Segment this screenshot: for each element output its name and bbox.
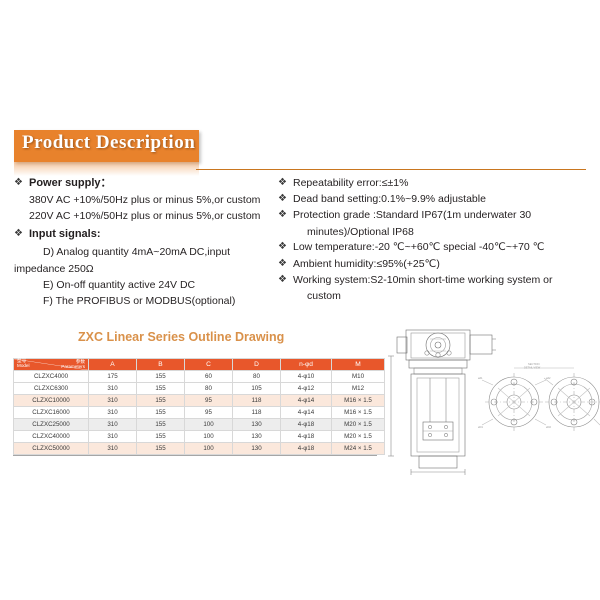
cell-c: 95 — [185, 407, 233, 419]
diamond-bullet-icon: ❖ — [278, 273, 293, 288]
cell-nd: 4-φ14 — [281, 395, 332, 407]
svg-text:øD1: øD1 — [478, 425, 483, 429]
cell-c: 60 — [185, 371, 233, 383]
diamond-bullet-icon: ❖ — [14, 227, 29, 242]
spec-repeatability-error: Repeatability error:≤±1% — [293, 176, 590, 191]
table-body: CLZXC4000 175 155 60 80 4-φ10 M10 CLZXC6… — [14, 371, 385, 455]
cell-m: M24 × 1.5 — [332, 443, 385, 455]
table-header-nd: n-φd — [281, 359, 332, 371]
spec-item: ❖ Repeatability error:≤±1% — [278, 176, 590, 191]
diamond-bullet-icon: ❖ — [278, 208, 293, 223]
cell-m: M20 × 1.5 — [332, 431, 385, 443]
cell-b: 155 — [137, 383, 185, 395]
spec-power-220v: 220V AC +10%/50Hz plus or minus 5%,or cu… — [14, 209, 276, 225]
spec-input-impedance: impedance 250Ω — [14, 261, 276, 277]
diamond-bullet-icon: ❖ — [14, 176, 29, 191]
cell-nd: 4-φ18 — [281, 431, 332, 443]
cell-nd: 4-φ12 — [281, 383, 332, 395]
table-row: CLZXC40000 310 155 100 130 4-φ18 M20 × 1… — [14, 431, 385, 443]
cell-model: CLZXC4000 — [14, 371, 89, 383]
svg-text:ød2: ød2 — [546, 376, 551, 380]
spec-label-power-supply: Power supply： — [29, 176, 276, 192]
spec-input-fieldbus: F) The PROFIBUS or MODBUS(optional) — [14, 293, 276, 309]
diamond-bullet-icon: ❖ — [278, 240, 293, 255]
table-corner-cell: 参数Parameters 型号Model — [14, 359, 89, 371]
cell-d: 105 — [233, 383, 281, 395]
drawing-section-title: ZXC Linear Series Outline Drawing — [78, 330, 284, 344]
cell-a: 310 — [89, 395, 137, 407]
table-row: CLZXC10000 310 155 95 118 4-φ14 M16 × 1.… — [14, 395, 385, 407]
spec-label-input-signals: Input signals: — [29, 227, 276, 243]
corner-parameters-label: 参数Parameters — [61, 360, 85, 370]
cell-b: 155 — [137, 431, 185, 443]
cell-m: M12 — [332, 383, 385, 395]
page-title: Product Description — [22, 132, 195, 154]
spec-item: ❖ Protection grade :Standard IP67(1m und… — [278, 208, 590, 223]
cell-b: 155 — [137, 395, 185, 407]
table-row: CLZXC50000 310 155 100 130 4-φ18 M24 × 1… — [14, 443, 385, 455]
spec-item: ❖ Ambient humidity:≤95%(+25℃) — [278, 257, 590, 272]
cell-model: CLZXC25000 — [14, 419, 89, 431]
cell-c: 100 — [185, 431, 233, 443]
cell-nd: 4-φ10 — [281, 371, 332, 383]
cell-d: 118 — [233, 407, 281, 419]
table-header-a: A — [89, 359, 137, 371]
table-row: CLZXC16000 310 155 95 118 4-φ14 M16 × 1.… — [14, 407, 385, 419]
diamond-bullet-icon: ❖ — [278, 257, 293, 272]
cell-model: CLZXC16000 — [14, 407, 89, 419]
svg-text:SECTION: SECTION — [528, 362, 540, 366]
cell-a: 310 — [89, 419, 137, 431]
spec-power-380v: 380V AC +10%/50Hz plus or minus 5%,or cu… — [14, 193, 276, 209]
spec-input-onoff: E) On-off quantity active 24V DC — [14, 277, 276, 293]
spec-input-analog: D) Analog quantity 4mA~20mA DC,input — [14, 244, 276, 260]
cell-nd: 4-φ18 — [281, 419, 332, 431]
cell-nd: 4-φ14 — [281, 407, 332, 419]
cell-a: 310 — [89, 383, 137, 395]
banner-block: Product Description — [14, 130, 199, 162]
banner-reflection — [14, 162, 199, 176]
outline-drawing: SECTION DETAIL VIEW ød1 ød2 øD1 øD2 — [378, 328, 600, 476]
cell-m: M16 × 1.5 — [332, 395, 385, 407]
svg-text:DETAIL VIEW: DETAIL VIEW — [524, 366, 541, 370]
cell-a: 310 — [89, 431, 137, 443]
cell-c: 100 — [185, 443, 233, 455]
section-banner: Product Description — [14, 130, 199, 162]
table-header-c: C — [185, 359, 233, 371]
cell-b: 155 — [137, 443, 185, 455]
banner-underline — [196, 169, 586, 170]
cell-m: M20 × 1.5 — [332, 419, 385, 431]
cell-d: 80 — [233, 371, 281, 383]
product-description-page: Product Description ❖ Power supply： 380V… — [0, 0, 600, 600]
cell-a: 175 — [89, 371, 137, 383]
cell-d: 130 — [233, 431, 281, 443]
spec-column-right: ❖ Repeatability error:≤±1% ❖ Dead band s… — [278, 176, 590, 305]
table-header-d: D — [233, 359, 281, 371]
table-header-m: M — [332, 359, 385, 371]
cell-b: 155 — [137, 407, 185, 419]
table-row: CLZXC4000 175 155 60 80 4-φ10 M10 — [14, 371, 385, 383]
actuator-outline-drawing-icon: SECTION DETAIL VIEW ød1 ød2 øD1 øD2 — [378, 328, 600, 476]
spec-column-left: ❖ Power supply： 380V AC +10%/50Hz plus o… — [14, 176, 276, 309]
spec-low-temperature: Low temperature:-20 ℃~+60℃ special -40℃~… — [293, 240, 590, 255]
cell-model: CLZXC50000 — [14, 443, 89, 455]
cell-c: 100 — [185, 419, 233, 431]
cell-m: M10 — [332, 371, 385, 383]
table-row: CLZXC6300 310 155 80 105 4-φ12 M12 — [14, 383, 385, 395]
svg-text:ød1: ød1 — [478, 376, 483, 380]
cell-model: CLZXC10000 — [14, 395, 89, 407]
cell-d: 130 — [233, 419, 281, 431]
spec-protection-grade: Protection grade :Standard IP67(1m under… — [293, 208, 590, 223]
diamond-bullet-icon: ❖ — [278, 176, 293, 191]
spec-item: ❖ Low temperature:-20 ℃~+60℃ special -40… — [278, 240, 590, 255]
spec-dead-band-setting: Dead band setting:0.1%~9.9% adjustable — [293, 192, 590, 207]
cell-model: CLZXC40000 — [14, 431, 89, 443]
dimension-table: 参数Parameters 型号Model A B C D n-φd M CLZX… — [13, 358, 377, 455]
cell-m: M16 × 1.5 — [332, 407, 385, 419]
table-header-row: 参数Parameters 型号Model A B C D n-φd M — [14, 359, 385, 371]
cell-b: 155 — [137, 419, 185, 431]
table-header-b: B — [137, 359, 185, 371]
svg-text:øD2: øD2 — [546, 425, 551, 429]
corner-model-label: 型号Model — [17, 359, 30, 369]
cell-model: CLZXC6300 — [14, 383, 89, 395]
cell-a: 310 — [89, 443, 137, 455]
cell-c: 80 — [185, 383, 233, 395]
table-row: CLZXC25000 310 155 100 130 4-φ18 M20 × 1… — [14, 419, 385, 431]
diamond-bullet-icon: ❖ — [278, 192, 293, 207]
cell-d: 130 — [233, 443, 281, 455]
spec-item: ❖ Dead band setting:0.1%~9.9% adjustable — [278, 192, 590, 207]
spec-item: ❖ Working system:S2-10min short-time wor… — [278, 273, 590, 288]
spec-ambient-humidity: Ambient humidity:≤95%(+25℃) — [293, 257, 590, 272]
cell-c: 95 — [185, 395, 233, 407]
spec-item: ❖ Input signals: — [14, 227, 276, 243]
cell-d: 118 — [233, 395, 281, 407]
spec-protection-grade-cont: minutes)/Optional IP68 — [278, 225, 590, 241]
spec-working-system-cont: custom — [278, 289, 590, 305]
spec-working-system: Working system:S2-10min short-time worki… — [293, 273, 590, 288]
cell-a: 310 — [89, 407, 137, 419]
spec-item: ❖ Power supply： — [14, 176, 276, 192]
cell-nd: 4-φ18 — [281, 443, 332, 455]
cell-b: 155 — [137, 371, 185, 383]
